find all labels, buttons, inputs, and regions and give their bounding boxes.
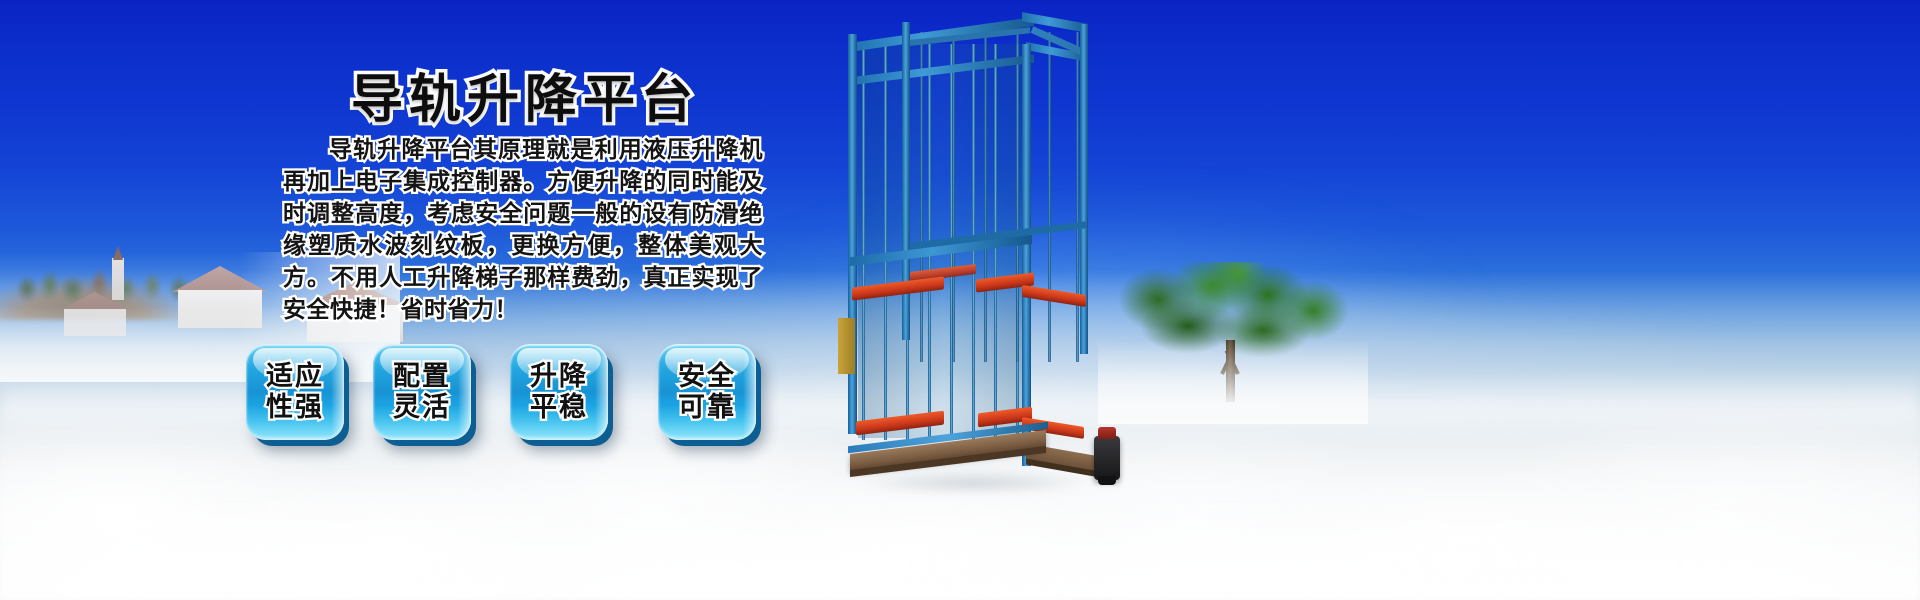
base-wheel xyxy=(1098,476,1116,485)
feature-button-label: 配置 灵活 xyxy=(373,361,471,423)
feature-button-label: 安全 可靠 xyxy=(658,361,756,423)
feature-label-line1: 适应 xyxy=(246,361,344,392)
feature-label-line1: 升降 xyxy=(510,361,608,392)
description-text: 导轨升降平台其原理就是利用液压升降机再加上电子集成控制器。方便升降的同时能及时调… xyxy=(283,134,763,326)
feature-label-line2: 平稳 xyxy=(510,392,608,423)
control-box xyxy=(838,318,855,374)
feature-label-line2: 可靠 xyxy=(658,392,756,423)
rail xyxy=(1076,32,1079,362)
feature-button-group: 适应 性强 配置 灵活 升降 平稳 安全 可靠 xyxy=(246,344,786,454)
feature-label-line2: 性强 xyxy=(246,392,344,423)
feature-button-smooth-lifting[interactable]: 升降 平稳 xyxy=(510,344,608,440)
feature-label-line2: 灵活 xyxy=(373,392,471,423)
feature-button-label: 升降 平稳 xyxy=(510,361,608,423)
page-title: 导轨升降平台 xyxy=(0,57,1050,132)
feature-button-configuration[interactable]: 配置 灵活 xyxy=(373,344,471,440)
feature-button-adaptability[interactable]: 适应 性强 xyxy=(246,344,344,440)
feature-button-label: 适应 性强 xyxy=(246,361,344,423)
feature-label-line1: 安全 xyxy=(658,361,756,392)
feature-button-safety[interactable]: 安全 可靠 xyxy=(658,344,756,440)
tree-fade xyxy=(1098,340,1368,424)
product-banner: 导轨升降平台 导轨升降平台其原理就是利用液压升降机再加上电子集成控制器。方便升降… xyxy=(0,0,1920,600)
description-paragraph: 导轨升降平台其原理就是利用液压升降机再加上电子集成控制器。方便升降的同时能及时调… xyxy=(283,134,763,326)
hydraulic-power-unit xyxy=(1094,436,1120,480)
feature-label-line1: 配置 xyxy=(373,361,471,392)
